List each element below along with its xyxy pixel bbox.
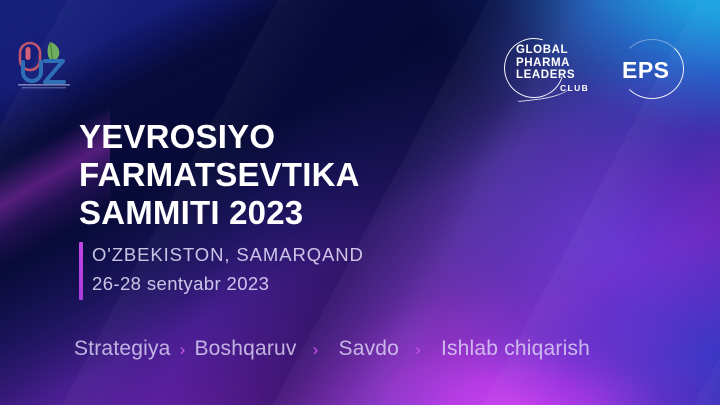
- topic-item-savdo[interactable]: Savdo: [339, 336, 400, 362]
- poster-content: GLOBAL PHARMA LEADERS CLUB EPS YEVROSIYO…: [0, 0, 720, 405]
- topic-item-ishlab-chiqarish[interactable]: Ishlab chiqarish: [441, 336, 590, 362]
- title-line-1: YEVROSIYO: [79, 118, 499, 156]
- event-location: O'ZBEKISTON, SAMARQAND: [92, 240, 364, 269]
- topic-item-boshqaruv[interactable]: Boshqaruv: [194, 336, 296, 362]
- club-logo-text: GLOBAL PHARMA LEADERS: [516, 44, 575, 82]
- eps-logo-text: EPS: [622, 57, 670, 84]
- page-title: YEVROSIYO FARMATSEVTIKA SAMMITI 2023: [79, 118, 499, 232]
- club-line-2: PHARMA: [516, 57, 570, 69]
- chevron-right-icon-3: ›: [415, 337, 421, 363]
- event-details: O'ZBEKISTON, SAMARQAND 26-28 sentyabr 20…: [79, 240, 364, 298]
- eps-logo: EPS: [614, 44, 688, 90]
- club-line-1: GLOBAL: [516, 44, 568, 56]
- accent-rule: [79, 242, 83, 300]
- uzbekistan-pharma-agency-logo: [16, 38, 76, 90]
- chevron-right-icon-1: ›: [180, 337, 186, 363]
- summit-poster: GLOBAL PHARMA LEADERS CLUB EPS YEVROSIYO…: [0, 0, 720, 405]
- title-line-2: FARMATSEVTIKA: [79, 156, 499, 194]
- event-dates: 26-28 sentyabr 2023: [92, 269, 364, 298]
- title-line-3: SAMMITI 2023: [79, 194, 499, 232]
- agency-logo-mark: [16, 38, 76, 90]
- club-line-3: LEADERS: [516, 69, 575, 81]
- global-pharma-leaders-club-logo: GLOBAL PHARMA LEADERS CLUB: [500, 36, 608, 98]
- topic-item-strategiya[interactable]: Strategiya: [74, 336, 171, 362]
- topic-breadcrumb: Strategiya › Boshqaruv › Savdo › Ishlab …: [74, 336, 590, 363]
- club-sublabel: CLUB: [560, 83, 589, 93]
- chevron-right-icon-2: ›: [313, 337, 319, 363]
